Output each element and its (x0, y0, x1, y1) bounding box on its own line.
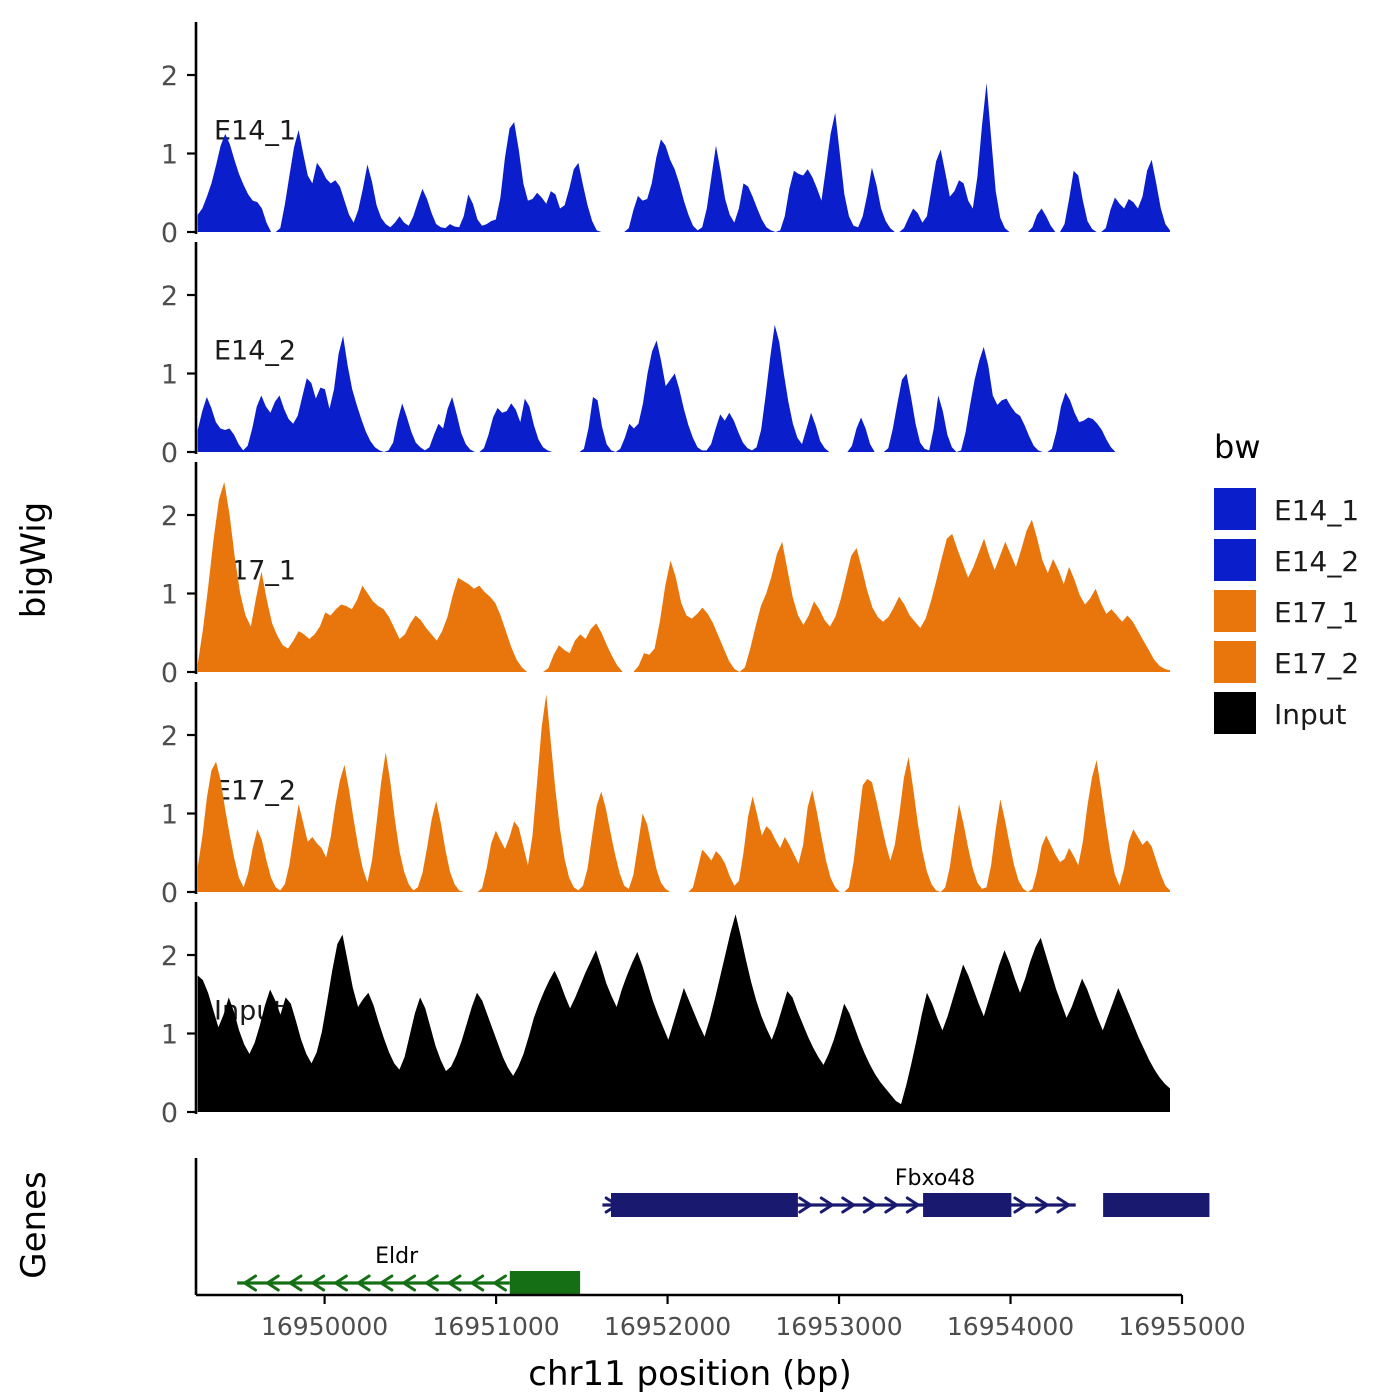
gene-exon-block (611, 1193, 798, 1217)
legend-swatch-E17_2 (1214, 641, 1256, 683)
y-tick-label-E17_1-2: 2 (161, 501, 178, 532)
legend-swatch-E17_1 (1214, 590, 1256, 632)
x-tick-label-16952000: 16952000 (604, 1312, 731, 1341)
legend-item-E14_1[interactable]: E14_1 (1214, 488, 1359, 530)
x-tick-label-16953000: 16953000 (775, 1312, 902, 1341)
y-tick-label-E17_1-0: 0 (161, 658, 178, 689)
gene-exon-block (510, 1271, 580, 1295)
x-axis-title: chr11 position (bp) (528, 1354, 851, 1394)
x-tick-label-16951000: 16951000 (432, 1312, 559, 1341)
legend-label-E14_2: E14_2 (1274, 545, 1359, 578)
gene-exon-block (1103, 1193, 1209, 1217)
figure-root: bigWig Genes 012E14_1012E14_2012E17_1012… (0, 0, 1400, 1400)
track-label-E14_2: E14_2 (214, 336, 296, 367)
y-tick-label-E14_2-0: 0 (161, 438, 178, 469)
legend-label-E17_2: E17_2 (1274, 647, 1359, 680)
x-tick-label-16950000: 16950000 (261, 1312, 388, 1341)
legend-label-Input: Input (1274, 698, 1347, 731)
y-tick-label-E17_2-2: 2 (161, 721, 178, 752)
y-tick-label-Input-2: 2 (161, 941, 178, 972)
y-tick-label-Input-1: 1 (161, 1020, 178, 1051)
y-tick-label-E14_1-1: 1 (161, 140, 178, 171)
genes-strip-title: Genes (14, 1171, 54, 1278)
y-tick-label-E14_1-0: 0 (161, 218, 178, 249)
y-tick-label-E17_2-1: 1 (161, 800, 178, 831)
legend-item-E14_2[interactable]: E14_2 (1214, 539, 1359, 581)
gene-name-label-Eldr: Eldr (375, 1244, 419, 1269)
legend-item-E17_1[interactable]: E17_1 (1214, 590, 1359, 632)
legend-label-E17_1: E17_1 (1274, 596, 1359, 629)
track-label-E17_2: E17_2 (214, 776, 296, 807)
y-tick-label-E14_2-2: 2 (161, 281, 178, 312)
legend-item-E17_2[interactable]: E17_2 (1214, 641, 1359, 683)
gene-exon-block (923, 1193, 1011, 1217)
y-tick-label-E17_1-1: 1 (161, 580, 178, 611)
y-tick-label-Input-0: 0 (161, 1098, 178, 1129)
legend-item-Input[interactable]: Input (1214, 692, 1347, 734)
legend-swatch-E14_1 (1214, 488, 1256, 530)
genome-browser-figure: bigWig Genes 012E14_1012E14_2012E17_1012… (0, 0, 1400, 1400)
x-tick-label-16954000: 16954000 (947, 1312, 1074, 1341)
y-axis-title: bigWig (14, 502, 54, 619)
legend-swatch-E14_2 (1214, 539, 1256, 581)
legend-label-E14_1: E14_1 (1274, 494, 1359, 527)
x-tick-label-16955000: 16955000 (1118, 1312, 1245, 1341)
legend-title: bw (1214, 428, 1260, 466)
legend-swatch-Input (1214, 692, 1256, 734)
y-tick-label-E14_1-2: 2 (161, 61, 178, 92)
y-tick-label-E14_2-1: 1 (161, 360, 178, 391)
gene-name-label-Fbxo48: Fbxo48 (895, 1166, 975, 1191)
y-tick-label-E17_2-0: 0 (161, 878, 178, 909)
